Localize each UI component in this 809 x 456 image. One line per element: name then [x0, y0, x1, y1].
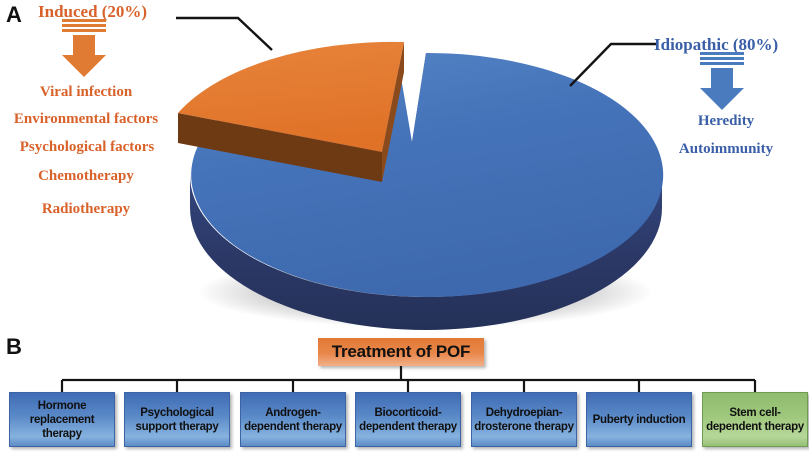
- panel-b-letter: B: [6, 334, 21, 360]
- idiopathic-item: Autoimmunity: [656, 141, 796, 158]
- pie-slice-idiopathic-cut-wall-2: [412, 142, 426, 208]
- treatment-box[interactable]: Biocorticoid-dependent therapy: [355, 392, 461, 447]
- treatment-box-label: Puberty induction: [593, 413, 686, 427]
- down-arrow-orange-icon: [62, 19, 106, 77]
- cause-item: Environmental factors: [0, 111, 172, 128]
- treatment-box[interactable]: Hormone replacement therapy: [9, 392, 115, 447]
- treatment-box-label: Stem cell-dependent therapy: [705, 406, 805, 434]
- treatment-box-label: Androgen-dependent therapy: [243, 406, 343, 434]
- pie-slice-induced-side: [178, 113, 382, 182]
- pie-slice-idiopathic-top: [191, 53, 663, 297]
- arrow-body: [700, 68, 744, 110]
- treatment-box-label: Dehydroepian-drosterone therapy: [474, 406, 574, 434]
- pie-slice-idiopathic-side: [190, 175, 662, 330]
- cause-item: Psychological factors: [2, 139, 172, 156]
- leader-line-idiopathic: [570, 44, 658, 86]
- pie-shadow: [197, 256, 653, 328]
- cause-item: Radiotherapy: [27, 201, 145, 218]
- treatment-box[interactable]: Psychological support therapy: [124, 392, 230, 447]
- arrow-stripes: [700, 52, 744, 67]
- leader-line-induced: [176, 18, 272, 50]
- treatment-box[interactable]: Dehydroepian-drosterone therapy: [471, 392, 577, 447]
- treatment-box-label: Biocorticoid-dependent therapy: [358, 406, 458, 434]
- arrow-body: [62, 35, 106, 77]
- treatment-header-label: Treatment of POF: [332, 342, 471, 362]
- pie-slice-idiopathic-cut-wall: [412, 53, 426, 175]
- cause-item: Viral infection: [27, 84, 145, 101]
- down-arrow-blue-icon: [700, 52, 744, 110]
- idiopathic-item: Heredity: [672, 113, 780, 130]
- treatment-box-label: Hormone replacement therapy: [12, 399, 112, 441]
- treatment-header-box: Treatment of POF: [318, 338, 484, 366]
- treatment-box[interactable]: Puberty induction: [586, 392, 692, 447]
- pie-slice-induced-top: [178, 42, 404, 152]
- treatment-box[interactable]: Stem cell-dependent therapy: [702, 392, 808, 447]
- treatment-box[interactable]: Androgen-dependent therapy: [240, 392, 346, 447]
- panel-a-letter: A: [6, 2, 21, 28]
- arrow-stripes: [62, 19, 106, 34]
- pie-slice-induced-side-right: [382, 42, 404, 182]
- treatment-box-label: Psychological support therapy: [127, 406, 227, 434]
- cause-item: Chemotherapy: [22, 168, 150, 185]
